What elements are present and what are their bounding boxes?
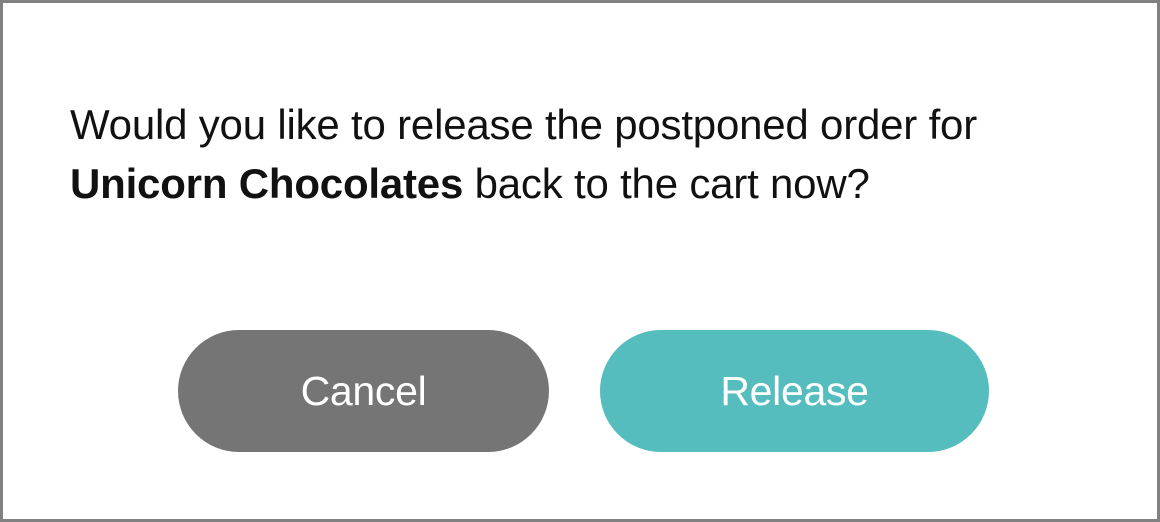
release-button[interactable]: Release: [600, 330, 989, 452]
message-suffix: back to the cart now?: [463, 160, 870, 207]
cancel-button[interactable]: Cancel: [178, 330, 549, 452]
dialog-actions: Cancel Release: [3, 330, 1157, 452]
message-prefix: Would you like to release the postponed …: [70, 101, 988, 148]
dialog-message: Would you like to release the postponed …: [70, 95, 1070, 213]
release-order-dialog: Would you like to release the postponed …: [0, 0, 1160, 522]
message-customer-name: Unicorn Chocolates: [70, 160, 463, 207]
